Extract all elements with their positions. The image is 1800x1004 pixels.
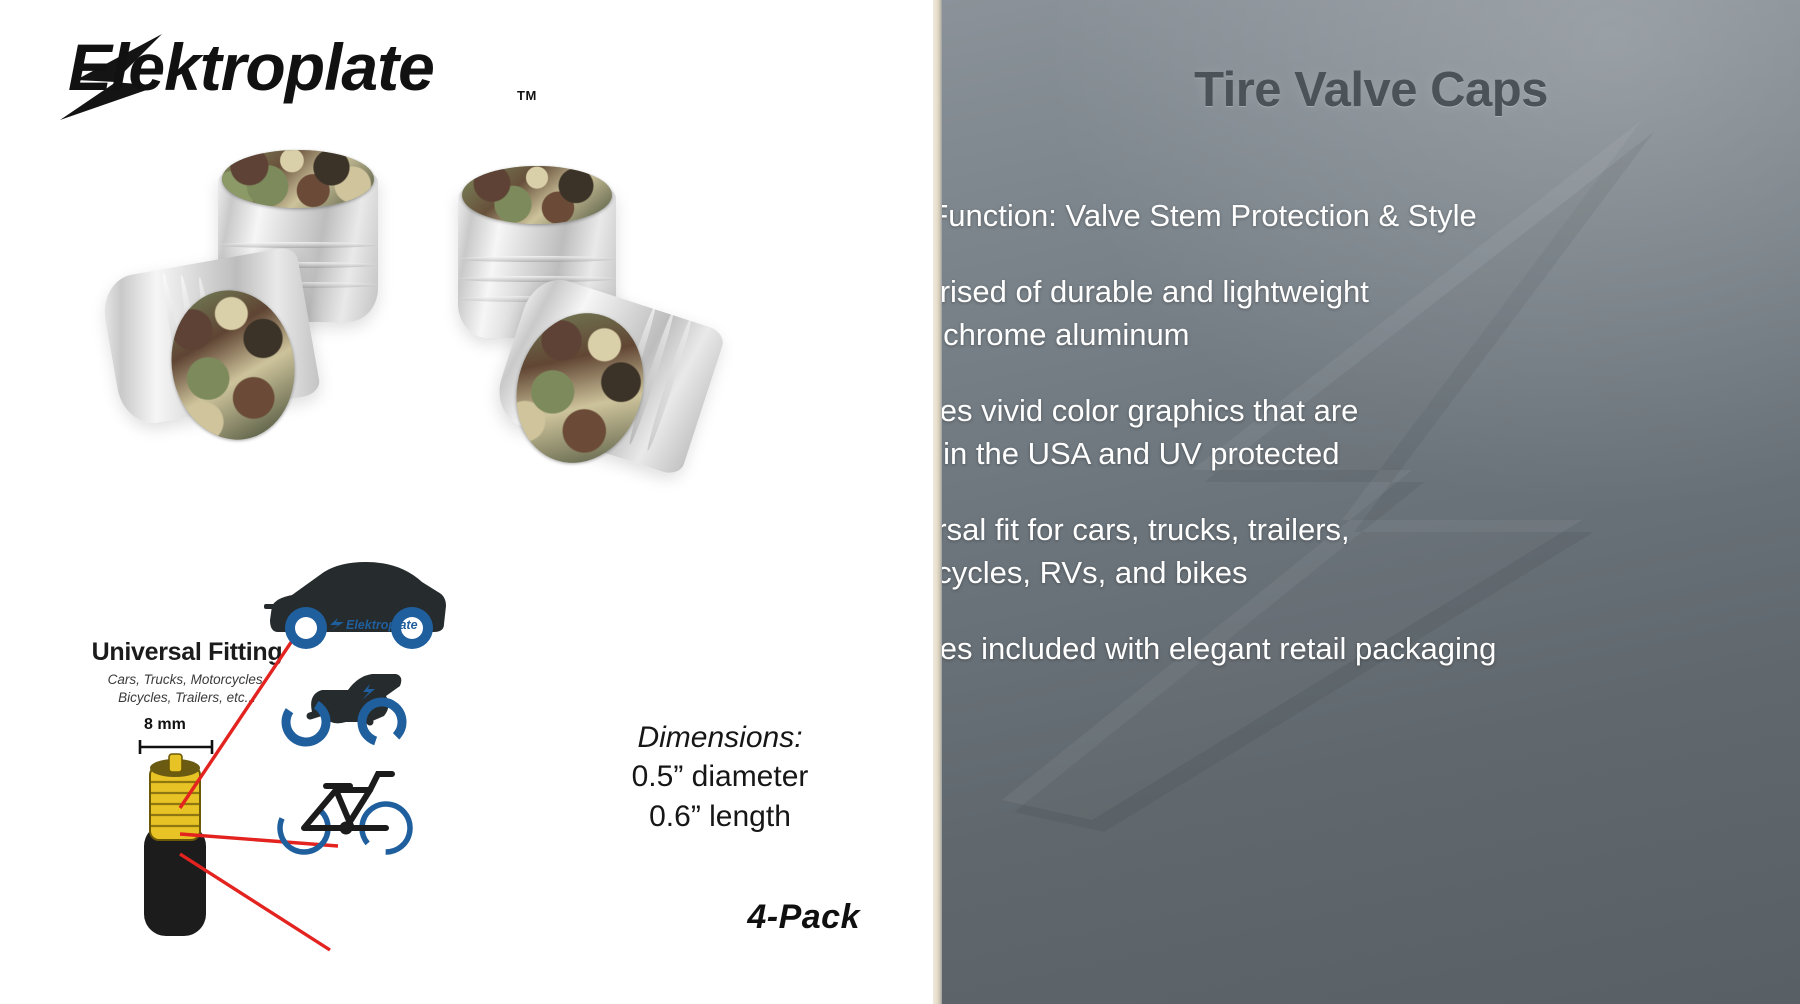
page-title: Tire Valve Caps [942,62,1800,118]
camo-graphic-side [160,281,306,450]
feature-item: Dual Function: Valve Stem Protection & S… [942,195,1715,237]
brand-wordmark: Elektroplate [68,28,548,114]
feature-item: Universal fit for cars, trucks, trailers… [942,509,1715,594]
svg-text:Elektroplate: Elektroplate [346,618,418,632]
brand-logo: Elektroplate TM [30,20,550,130]
dimensions-diameter: 0.5” diameter [590,757,850,797]
universal-fitting-diagram: Universal Fitting Cars, Trucks, Motorcyc… [62,638,532,968]
right-gray-panel: Tire Valve Caps Dual Function: Valve Ste… [942,0,1800,1004]
pack-count-label: 4-Pack [700,898,860,937]
feature-list: Dual Function: Valve Stem Protection & S… [942,195,1715,705]
product-marketing-image: Elektroplate TM [0,0,1800,1004]
dimensions-length: 0.6” length [590,797,850,837]
feature-item: 4 pieces included with elegant retail pa… [942,628,1715,670]
motorcycle-icon [274,660,420,752]
feature-item: Comprised of durable and lightweight mat… [942,271,1715,356]
car-icon: Elektroplate [262,548,450,660]
svg-text:Elektroplate: Elektroplate [68,30,434,104]
panel-divider [933,0,942,1004]
product-photo [110,150,770,530]
camo-graphic-top [222,150,374,208]
dimensions-heading: Dimensions: [590,718,850,757]
trademark-symbol: TM [517,88,537,103]
bicycle-icon [274,766,424,864]
left-white-panel: Elektroplate TM [0,0,933,1004]
dimensions-block: Dimensions: 0.5” diameter 0.6” length [590,718,850,836]
feature-item: Includes vivid color graphics that are M… [942,390,1715,475]
camo-graphic-top [462,166,612,224]
